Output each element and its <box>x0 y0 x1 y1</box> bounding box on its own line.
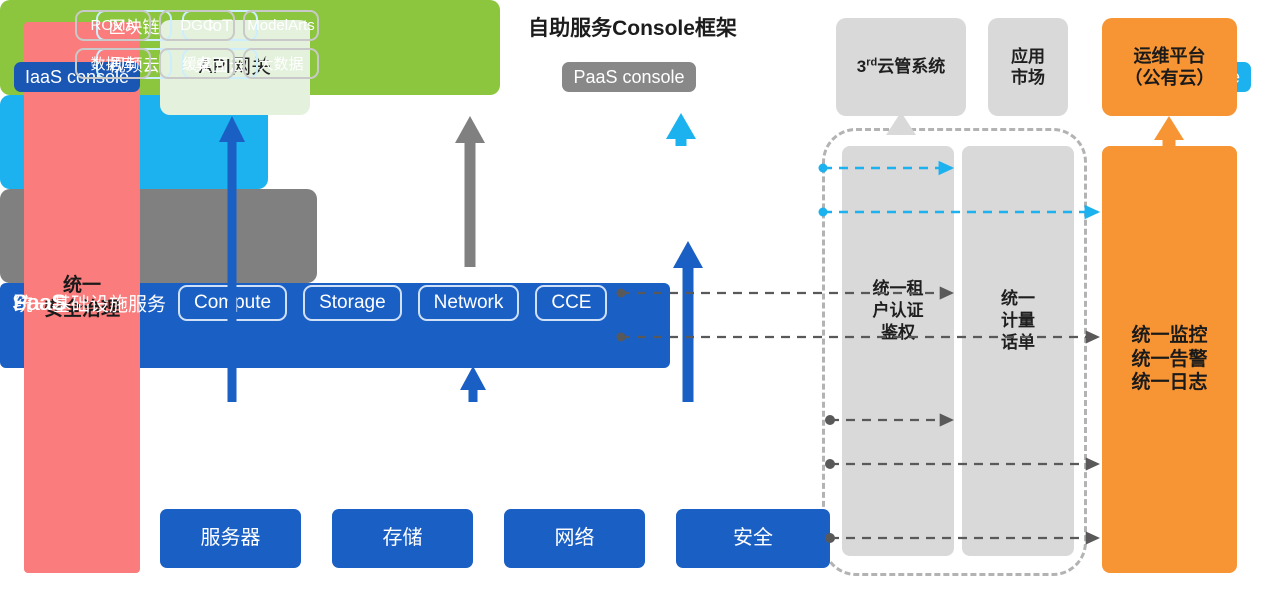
arrow-ops-bar-to-ops-platform <box>1154 116 1184 146</box>
third-party-cloud-mgmt-box: 3rd云管系统 <box>836 18 966 116</box>
app-market-box: 应用市场 <box>988 18 1068 116</box>
paas-console-chip[interactable]: PaaS console <box>562 62 695 92</box>
paas-service-bigdata[interactable]: 大数据 <box>243 48 319 79</box>
paas-service-database[interactable]: 数据库 <box>75 48 151 79</box>
shared-column-auth-label: 统一租户认证鉴权 <box>842 278 954 344</box>
ops-monitoring-label: 统一监控统一告警统一日志 <box>1131 324 1207 395</box>
arrow-paas-to-console <box>455 116 485 267</box>
ops-monitoring-bar: 统一监控统一告警统一日志 <box>1102 146 1237 573</box>
infrastructure-service-row: Compute Storage Network CCE <box>178 285 607 321</box>
infra-service-storage[interactable]: Storage <box>303 285 402 321</box>
base-resource-storage: 存储 <box>332 509 473 568</box>
shared-column-auth <box>842 146 954 556</box>
ops-platform-box: 运维平台（公有云） <box>1102 18 1237 116</box>
paas-service-dgc[interactable]: DGC <box>159 10 235 41</box>
arrow-infra-to-saas <box>673 241 703 402</box>
arrow-saas-to-console <box>666 113 696 146</box>
base-resource-network: 网络 <box>504 509 645 568</box>
shared-column-metering-label: 统一计量话单 <box>962 288 1074 354</box>
app-market-label: 应用市场 <box>1011 46 1045 89</box>
paas-service-modelarts[interactable]: ModelArts <box>243 10 319 41</box>
architecture-diagram: 统一安全治理 API网关 自助服务Console框架 IaaS console … <box>0 0 1265 605</box>
base-resource-storage-label: 存储 <box>383 526 423 551</box>
paas-service-roma[interactable]: ROMA <box>75 10 151 41</box>
unified-infrastructure-label: 统一基础设施服务 <box>14 289 166 316</box>
infra-service-cce[interactable]: CCE <box>535 285 607 321</box>
infra-service-compute[interactable]: Compute <box>178 285 287 321</box>
infra-service-network[interactable]: Network <box>418 285 520 321</box>
paas-service-grid: ROMA DGC ModelArts 数据库 缓存 大数据 <box>75 10 319 79</box>
base-resource-server-label: 服务器 <box>201 526 261 551</box>
third-party-cloud-mgmt-label: 3rd云管系统 <box>857 56 945 77</box>
base-resource-security: 安全 <box>676 509 830 568</box>
ops-platform-label: 运维平台（公有云） <box>1125 45 1215 90</box>
base-resource-security-label: 安全 <box>733 526 773 551</box>
base-resource-network-label: 网络 <box>555 526 595 551</box>
arrow-infra-to-paas <box>460 366 486 402</box>
paas-service-cache[interactable]: 缓存 <box>159 48 235 79</box>
base-resource-server: 服务器 <box>160 509 301 568</box>
